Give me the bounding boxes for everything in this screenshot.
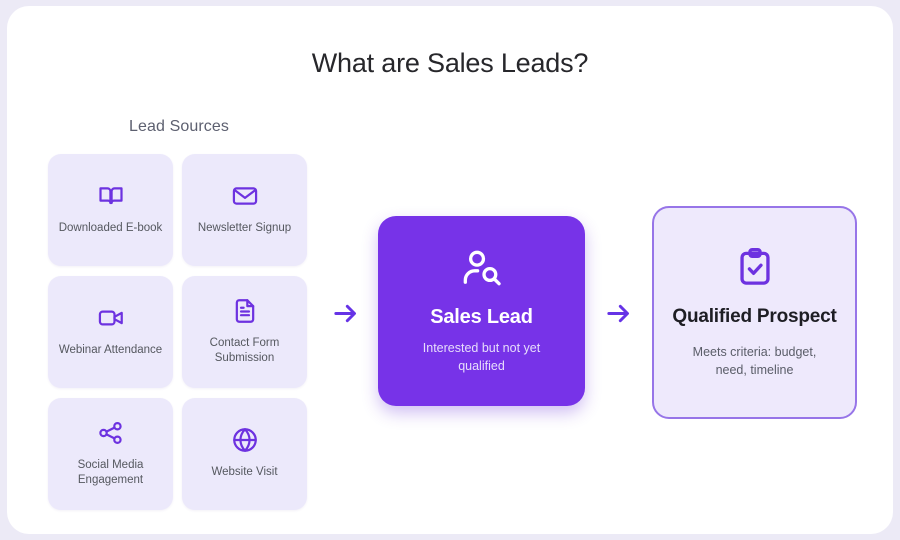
arrow-right-icon-sources-to-lead <box>332 300 359 327</box>
lead-sources-section: Lead Sources Downloaded E-book <box>48 118 318 510</box>
book-open-icon <box>97 182 125 210</box>
source-card-newsletter-signup[interactable]: Newsletter Signup <box>182 154 307 266</box>
source-card-label: Website Visit <box>211 465 277 480</box>
source-card-social-media-engagement[interactable]: Social Media Engagement <box>48 398 173 510</box>
source-card-label: Contact Form Submission <box>191 336 299 366</box>
source-card-label: Downloaded E-book <box>59 221 163 236</box>
lead-sources-heading: Lead Sources <box>48 118 310 136</box>
user-search-icon <box>460 247 504 291</box>
share-nodes-icon <box>97 419 125 447</box>
arrow-right-icon-lead-to-prospect <box>605 300 632 327</box>
video-camera-icon <box>97 304 125 332</box>
qualified-prospect-title: Qualified Prospect <box>672 304 836 330</box>
diagram-canvas: What are Sales Leads? Lead Sources Downl… <box>7 6 893 534</box>
page-title: What are Sales Leads? <box>7 48 893 79</box>
sales-lead-subtitle: Interested but not yet qualified <box>404 339 559 375</box>
qualified-prospect-card[interactable]: Qualified Prospect Meets criteria: budge… <box>652 206 857 419</box>
globe-icon <box>231 426 259 454</box>
source-card-webinar-attendance[interactable]: Webinar Attendance <box>48 276 173 388</box>
envelope-icon <box>231 182 259 210</box>
sales-lead-card[interactable]: Sales Lead Interested but not yet qualif… <box>378 216 585 406</box>
qualified-prospect-subtitle: Meets criteria: budget, need, timeline <box>680 343 830 379</box>
document-icon <box>231 297 259 325</box>
lead-sources-grid: Downloaded E-book Newsletter Signup <box>48 154 318 510</box>
sales-lead-title: Sales Lead <box>430 306 533 329</box>
source-card-downloaded-ebook[interactable]: Downloaded E-book <box>48 154 173 266</box>
source-card-website-visit[interactable]: Website Visit <box>182 398 307 510</box>
clipboard-check-icon <box>734 246 776 288</box>
source-card-label: Newsletter Signup <box>198 221 291 236</box>
source-card-contact-form-submission[interactable]: Contact Form Submission <box>182 276 307 388</box>
source-card-label: Webinar Attendance <box>59 343 162 358</box>
source-card-label: Social Media Engagement <box>57 458 165 488</box>
